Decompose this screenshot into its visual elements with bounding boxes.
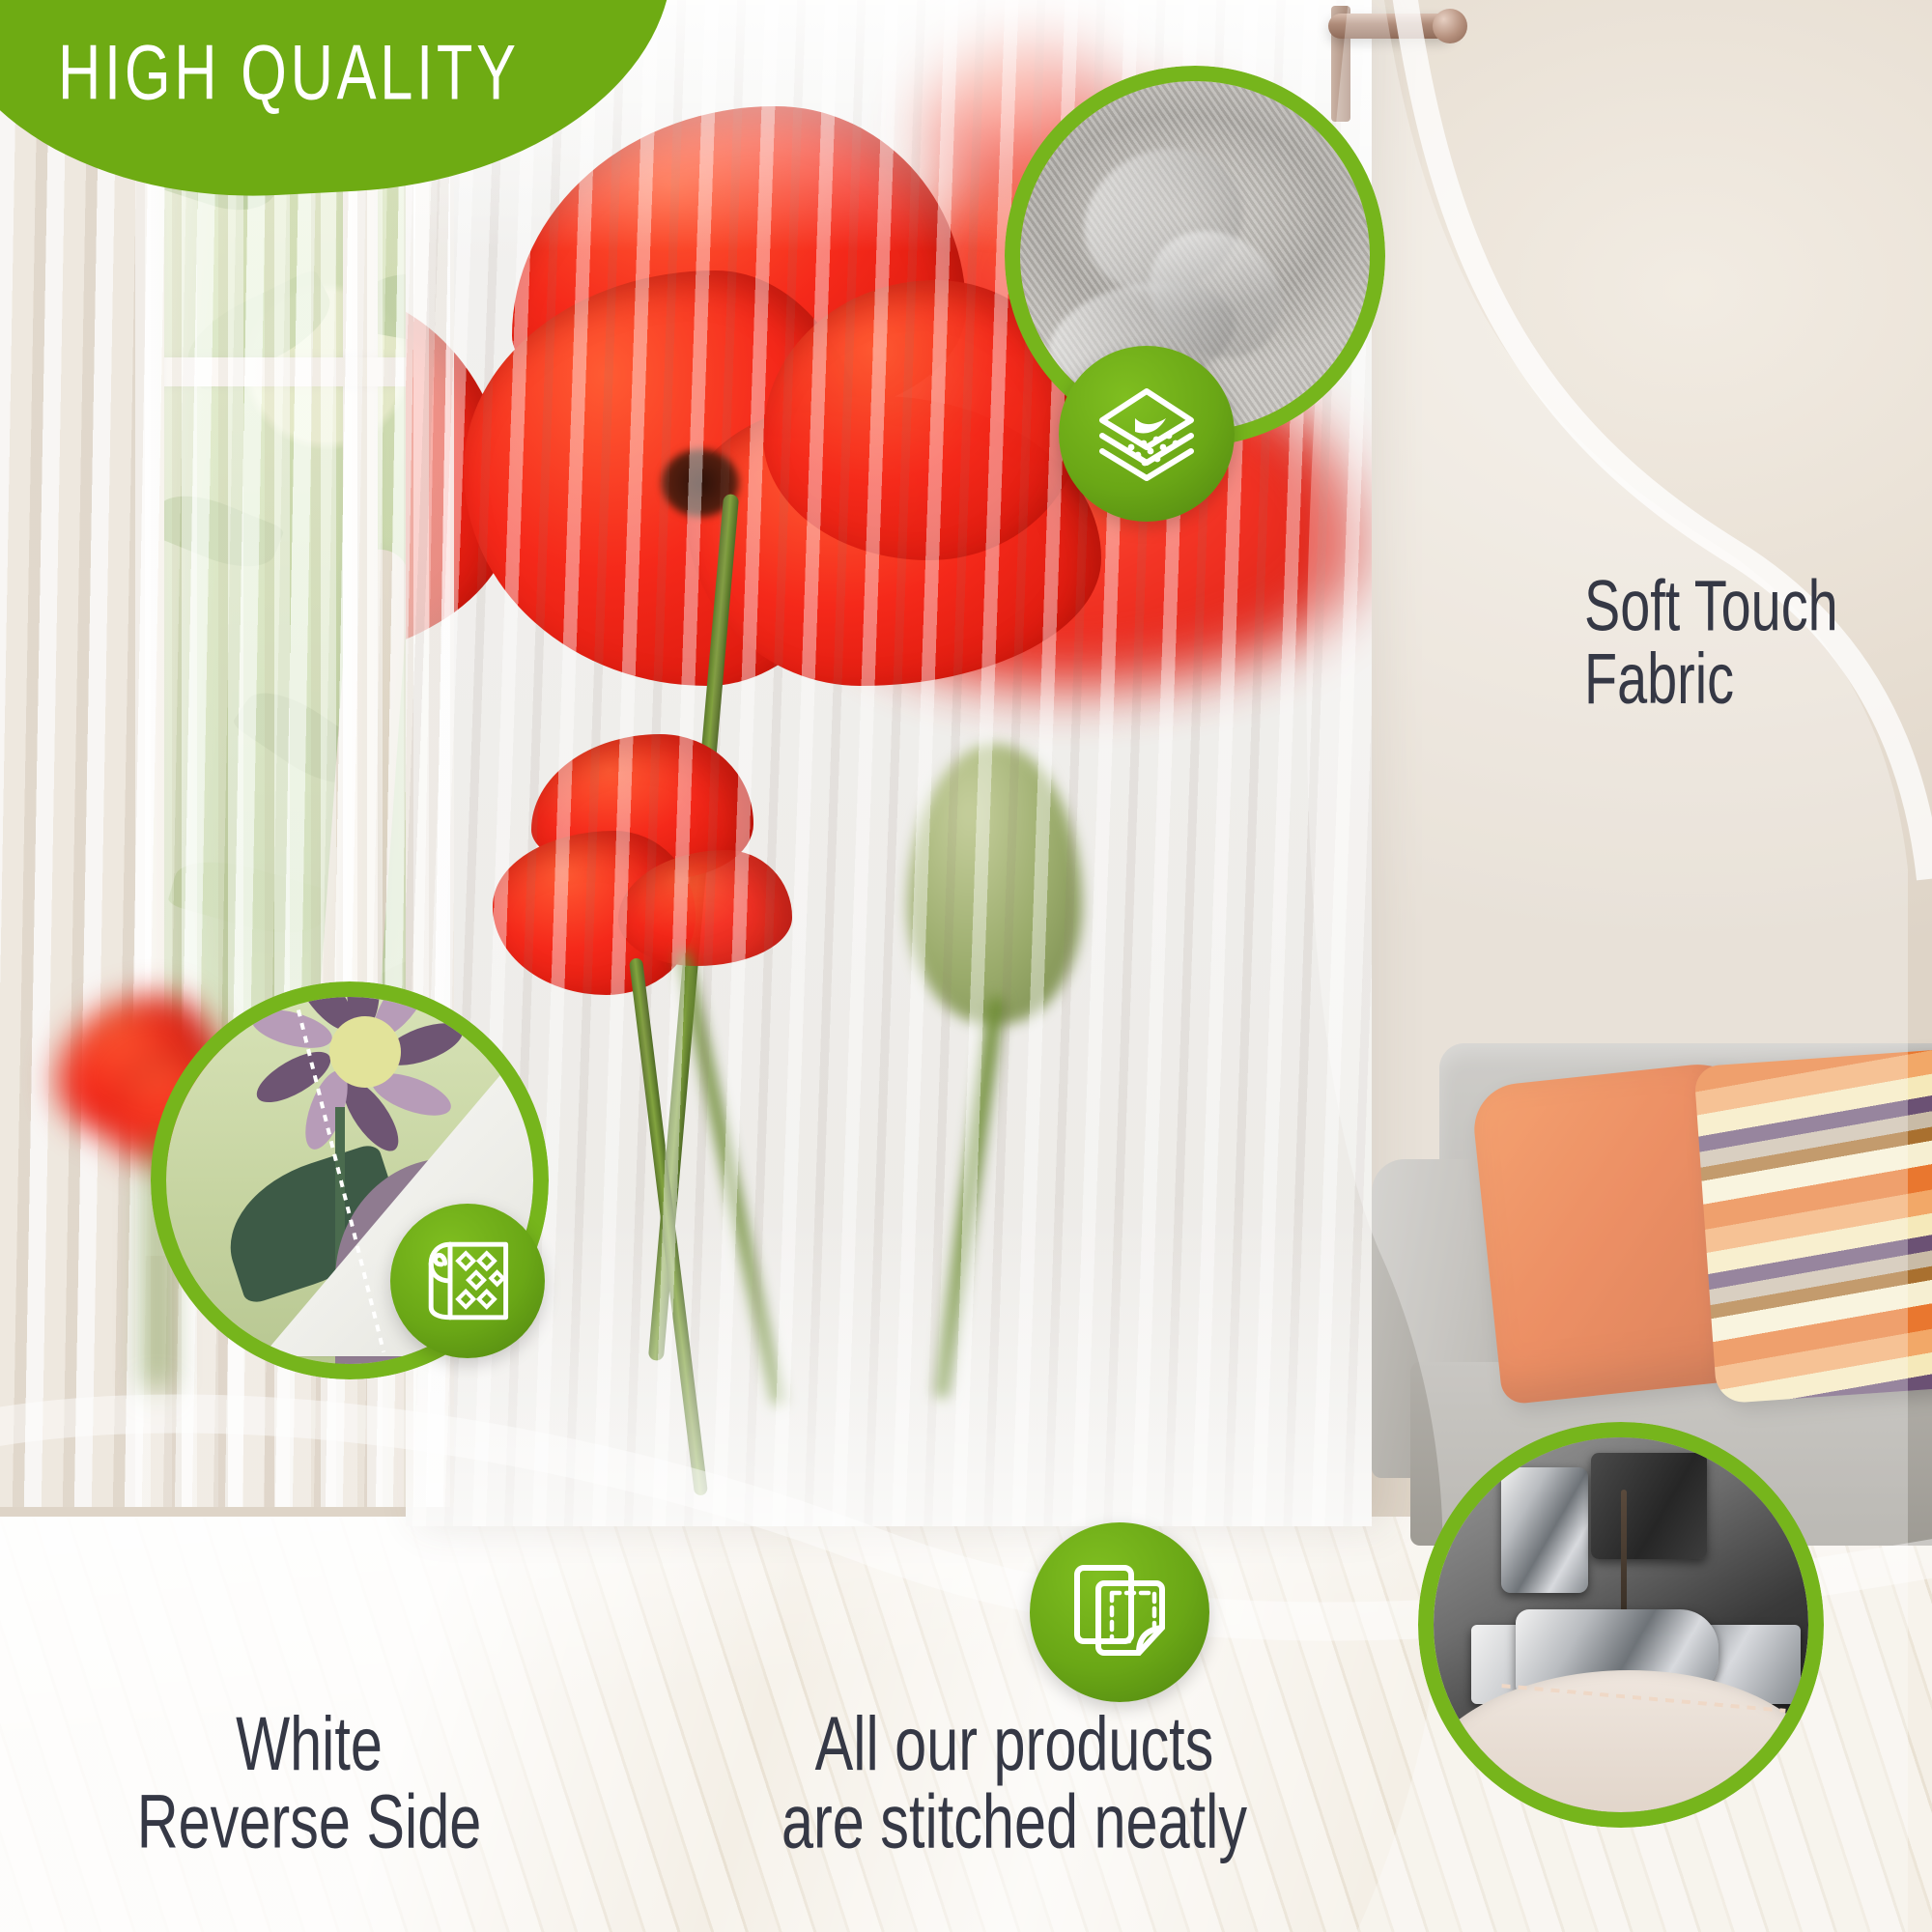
feature-circle-ring — [1418, 1422, 1824, 1828]
caption-line-2: Reverse Side — [66, 1783, 553, 1861]
caption-line-2: Fabric — [1584, 643, 1838, 717]
product-marketing-image: Soft Touch Fabric — [0, 0, 1932, 1932]
fabric-roll-icon-badge — [390, 1204, 545, 1358]
fabric-layers-icon — [1089, 376, 1205, 492]
caption-stitched-neatly: All our products are stitched neatly — [701, 1705, 1327, 1861]
feature-photo-stitched-neatly — [1418, 1422, 1824, 1828]
caption-line-2: are stitched neatly — [701, 1783, 1327, 1861]
caption-line-1: All our products — [701, 1705, 1327, 1783]
curtain-bottom-fade — [406, 1198, 1372, 1526]
high-quality-label: HIGH QUALITY — [58, 27, 520, 117]
caption-line-1: Soft Touch — [1584, 570, 1838, 643]
fabric-roll-icon — [415, 1229, 520, 1333]
stitched-panels-icon — [1062, 1554, 1178, 1670]
caption-white-reverse-side: White Reverse Side — [66, 1705, 553, 1861]
stitched-panels-icon-badge — [1030, 1522, 1209, 1702]
fabric-layers-icon-badge — [1059, 346, 1235, 522]
curtain-rod — [1328, 14, 1454, 39]
caption-line-1: White — [66, 1705, 553, 1783]
caption-soft-touch-fabric: Soft Touch Fabric — [1584, 570, 1838, 717]
poppy-bud — [908, 744, 1082, 1024]
striped-cushion — [1693, 1039, 1932, 1404]
